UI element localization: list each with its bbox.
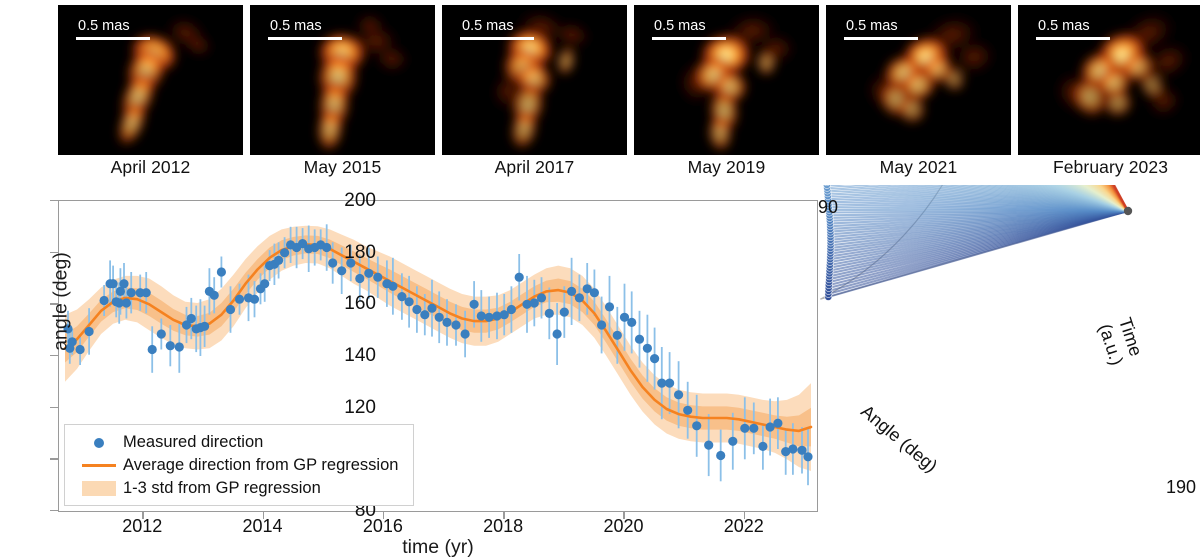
data-point [226, 305, 235, 314]
scale-bar-line [268, 37, 342, 40]
legend-key [75, 464, 123, 467]
data-point [773, 419, 782, 428]
data-point [740, 424, 749, 433]
scale-bar-line [460, 37, 534, 40]
x-tick-mark [623, 512, 624, 519]
y-tick-label: 180 [316, 242, 376, 264]
y-tick-mark [50, 407, 58, 408]
vlbi-image-panel: 0.5 masApril 2017 [442, 5, 627, 155]
data-point [665, 379, 674, 388]
data-point [485, 313, 494, 322]
data-point [613, 331, 622, 340]
data-point [749, 424, 758, 433]
data-point [758, 442, 767, 451]
x-tick-label: 2016 [348, 516, 418, 537]
data-point [119, 279, 128, 288]
x-tick-mark [142, 512, 143, 519]
y-tick-label: 200 [316, 190, 376, 212]
x-tick-label: 2018 [468, 516, 538, 537]
data-point [250, 295, 259, 304]
y-tick-label: 160 [316, 293, 376, 315]
y-tick-mark [50, 510, 58, 511]
vlbi-image-panel: 0.5 masApril 2012 [58, 5, 243, 155]
scale-bar: 0.5 mas [652, 19, 726, 40]
data-point [210, 291, 219, 300]
data-point [122, 298, 131, 307]
data-point [537, 293, 546, 302]
scale-bar: 0.5 mas [76, 19, 150, 40]
data-point [405, 297, 414, 306]
data-point [100, 296, 109, 305]
data-point [280, 248, 289, 257]
x-tick-mark [383, 512, 384, 519]
legend-key [75, 438, 123, 448]
data-point [175, 342, 184, 351]
data-point [85, 327, 94, 336]
data-point [515, 273, 524, 282]
vlbi-jet-image: 0.5 mas [634, 5, 819, 155]
data-point [683, 406, 692, 415]
legend-label: Measured direction [123, 433, 263, 452]
legend-row: Average direction from GP regression [75, 454, 405, 477]
data-point [507, 305, 516, 314]
data-point [704, 441, 713, 450]
data-point [477, 311, 486, 320]
x-tick-mark [744, 512, 745, 519]
legend-row: Measured direction [75, 431, 405, 454]
scale-bar-label: 0.5 mas [844, 19, 918, 34]
scale-bar-label: 0.5 mas [460, 19, 534, 34]
data-point [142, 288, 151, 297]
scale-bar-label: 0.5 mas [652, 19, 726, 34]
x-tick-label: 2012 [107, 516, 177, 537]
y-tick-label: 120 [316, 397, 376, 419]
data-point [590, 288, 599, 297]
data-point [420, 310, 429, 319]
data-point [451, 320, 460, 329]
fan-rays [827, 185, 1129, 297]
data-point [355, 274, 364, 283]
legend-key [75, 481, 123, 496]
scale-bar-line [1036, 37, 1110, 40]
data-point [553, 329, 562, 338]
data-point [627, 318, 636, 327]
data-point [575, 293, 584, 302]
scale-bar: 0.5 mas [268, 19, 342, 40]
x-tick-label: 2014 [228, 516, 298, 537]
panel-caption: May 2019 [620, 157, 833, 178]
fan-apex-marker [1124, 207, 1132, 215]
legend-row: 1-3 std from GP regression [75, 477, 405, 500]
scale-bar-label: 0.5 mas [76, 19, 150, 34]
legend-label: 1-3 std from GP regression [123, 479, 321, 498]
data-point [148, 345, 157, 354]
legend-line-swatch [82, 464, 116, 467]
panel-caption: May 2021 [812, 157, 1025, 178]
data-point [337, 266, 346, 275]
data-point [803, 452, 812, 461]
data-point [635, 335, 644, 344]
data-point [650, 354, 659, 363]
data-point [788, 444, 797, 453]
scale-bar: 0.5 mas [844, 19, 918, 40]
data-point [260, 279, 269, 288]
data-point [470, 300, 479, 309]
vlbi-image-panel: 0.5 masFebruary 2023 [1018, 5, 1200, 155]
x-tick-mark [503, 512, 504, 519]
data-point [692, 421, 701, 430]
scale-bar-line [652, 37, 726, 40]
data-point [76, 345, 85, 354]
data-point [412, 305, 421, 314]
panel-caption: February 2023 [1004, 157, 1200, 178]
vlbi-jet-image: 0.5 mas [58, 5, 243, 155]
data-point [364, 269, 373, 278]
data-point [461, 329, 470, 338]
panel-caption: April 2012 [44, 157, 257, 178]
y-tick-label: 140 [316, 345, 376, 367]
data-point [217, 267, 226, 276]
panel-caption: April 2017 [428, 157, 641, 178]
fan-tick-min-label: 90 [818, 197, 838, 218]
legend-band-swatch [82, 481, 116, 496]
data-point [200, 322, 209, 331]
polar-fan-diagram: 90 190 Time (a.u.) Angle (deg) [818, 185, 1200, 545]
data-point [187, 314, 196, 323]
data-point [373, 273, 382, 282]
vlbi-image-panel: 0.5 masMay 2021 [826, 5, 1011, 155]
data-point [442, 318, 451, 327]
vlbi-image-panel-strip: 0.5 masApril 20120.5 masMay 20150.5 masA… [0, 0, 1200, 180]
scale-bar-label: 0.5 mas [1036, 19, 1110, 34]
data-point [560, 308, 569, 317]
scale-bar: 0.5 mas [460, 19, 534, 40]
legend-marker-swatch [94, 438, 104, 448]
vlbi-jet-image: 0.5 mas [1018, 5, 1200, 155]
data-point [109, 279, 118, 288]
data-point [435, 313, 444, 322]
panel-caption: May 2015 [236, 157, 449, 178]
x-axis-label: time (yr) [318, 536, 558, 559]
scale-bar: 0.5 mas [1036, 19, 1110, 40]
data-point [127, 288, 136, 297]
data-point [728, 437, 737, 446]
data-point [274, 256, 283, 265]
scale-bar-label: 0.5 mas [268, 19, 342, 34]
vlbi-jet-image: 0.5 mas [250, 5, 435, 155]
y-tick-mark [50, 458, 58, 459]
data-point [388, 282, 397, 291]
data-point [674, 390, 683, 399]
x-tick-label: 2020 [588, 516, 658, 537]
vlbi-jet-image: 0.5 mas [442, 5, 627, 155]
y-axis-label: angle (deg) [50, 222, 73, 382]
data-point [643, 344, 652, 353]
vlbi-image-panel: 0.5 masMay 2019 [634, 5, 819, 155]
vlbi-image-panel: 0.5 masMay 2015 [250, 5, 435, 155]
data-point [597, 320, 606, 329]
legend-label: Average direction from GP regression [123, 456, 398, 475]
y-tick-mark [50, 200, 58, 201]
data-point [235, 295, 244, 304]
data-point [766, 422, 775, 431]
data-point [716, 451, 725, 460]
data-point [166, 341, 175, 350]
data-point [605, 302, 614, 311]
scale-bar-line [76, 37, 150, 40]
data-point [567, 287, 576, 296]
vlbi-jet-image: 0.5 mas [826, 5, 1011, 155]
plot-legend: Measured directionAverage direction from… [64, 424, 414, 506]
x-tick-mark [263, 512, 264, 519]
data-point [157, 329, 166, 338]
data-point [545, 309, 554, 318]
scale-bar-line [844, 37, 918, 40]
fan-tick-max-label: 190 [1166, 477, 1196, 498]
x-tick-label: 2022 [709, 516, 779, 537]
data-point [427, 304, 436, 313]
